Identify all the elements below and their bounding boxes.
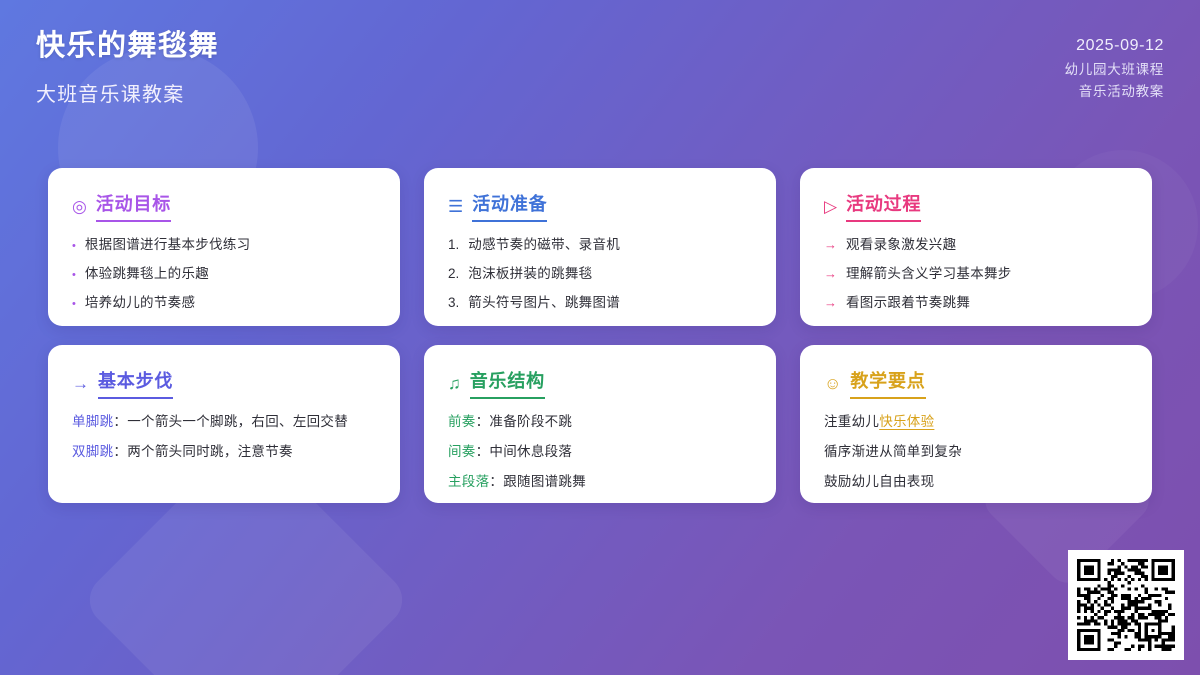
list-item: •体验跳舞毯上的乐趣 — [72, 265, 376, 283]
list-item-value: 两个箭头同时跳，注意节奏 — [127, 444, 293, 459]
list-item-text: 体验跳舞毯上的乐趣 — [85, 265, 209, 283]
music-note-icon: ♫ — [448, 375, 461, 392]
card-body: 单脚跳：一个箭头一个脚跳，右回、左回交替双脚跳：两个箭头同时跳，注意节奏 — [72, 413, 376, 461]
list-item: →理解箭头含义学习基本舞步 — [824, 265, 1128, 283]
card-header: ☰活动准备 — [448, 190, 752, 222]
bullet-dot-icon: • — [72, 297, 76, 312]
qr-code-image — [1077, 559, 1175, 651]
qr-code[interactable] — [1068, 550, 1184, 660]
list-item: 前奏：准备阶段不跳 — [448, 413, 752, 431]
card-4: →基本步伐单脚跳：一个箭头一个脚跳，右回、左回交替双脚跳：两个箭头同时跳，注意节… — [48, 345, 400, 503]
list-item-separator: ： — [476, 444, 490, 459]
header-meta-type: 音乐活动教案 — [1065, 81, 1164, 103]
list-item-key: 前奏 — [448, 414, 476, 429]
list-item-key: 间奏 — [448, 444, 476, 459]
title-block: 快乐的舞毯舞 大班音乐课教案 — [36, 28, 219, 107]
list-item-separator: ： — [113, 444, 127, 459]
list-item: 循序渐进从简单到复杂 — [824, 443, 1128, 461]
list-item-separator: ： — [476, 414, 490, 429]
list-item-value: 准备阶段不跳 — [489, 414, 572, 429]
page-title: 快乐的舞毯舞 — [36, 28, 219, 64]
list-item-key: 双脚跳 — [72, 444, 113, 459]
card-title: 活动过程 — [846, 190, 921, 222]
card-header: ♫音乐结构 — [448, 367, 752, 399]
list-item: 双脚跳：两个箭头同时跳，注意节奏 — [72, 443, 376, 461]
list-item: →观看录象激发兴趣 — [824, 236, 1128, 254]
list-item: 2.泡沫板拼装的跳舞毯 — [448, 265, 752, 283]
card-title: 基本步伐 — [98, 367, 173, 399]
card-title: 活动准备 — [472, 190, 547, 222]
card-body: 1.动感节奏的磁带、录音机2.泡沫板拼装的跳舞毯3.箭头符号图片、跳舞图谱 — [448, 236, 752, 313]
header-meta: 2025-09-12 幼儿园大班课程 音乐活动教案 — [1065, 28, 1164, 103]
header-meta-course: 幼儿园大班课程 — [1065, 59, 1164, 81]
arrow-right-icon: → — [824, 265, 837, 283]
card-2: ☰活动准备1.动感节奏的磁带、录音机2.泡沫板拼装的跳舞毯3.箭头符号图片、跳舞… — [424, 168, 776, 326]
card-header: ◎活动目标 — [72, 190, 376, 222]
card-body: 前奏：准备阶段不跳间奏：中间休息段落主段落：跟随图谱跳舞 — [448, 413, 752, 492]
list-item: 单脚跳：一个箭头一个脚跳，右回、左回交替 — [72, 413, 376, 431]
list-item-separator: ： — [113, 414, 127, 429]
list-item: 间奏：中间休息段落 — [448, 443, 752, 461]
list-item-number: 2. — [448, 265, 459, 283]
list-item-text: 动感节奏的磁带、录音机 — [468, 236, 620, 254]
list-item-text: 观看录象激发兴趣 — [846, 236, 956, 254]
header-date: 2025-09-12 — [1065, 34, 1164, 59]
list-item: 3.箭头符号图片、跳舞图谱 — [448, 294, 752, 312]
card-5: ♫音乐结构前奏：准备阶段不跳间奏：中间休息段落主段落：跟随图谱跳舞 — [424, 345, 776, 503]
card-body: →观看录象激发兴趣→理解箭头含义学习基本舞步→看图示跟着节奏跳舞 — [824, 236, 1128, 313]
arrow-right-icon: → — [824, 294, 837, 312]
page-subtitle: 大班音乐课教案 — [36, 78, 219, 107]
list-item: 鼓励幼儿自由表现 — [824, 473, 1128, 491]
list-item-text: 循序渐进从简单到复杂 — [824, 444, 962, 459]
list-item: →看图示跟着节奏跳舞 — [824, 294, 1128, 312]
card-header: ☺教学要点 — [824, 367, 1128, 399]
list-item-text: 根据图谱进行基本步伐练习 — [85, 236, 251, 254]
list-item-value: 中间休息段落 — [489, 444, 572, 459]
list-item: 主段落：跟随图谱跳舞 — [448, 473, 752, 491]
list-item-number: 1. — [448, 236, 459, 254]
card-3: ▷活动过程→观看录象激发兴趣→理解箭头含义学习基本舞步→看图示跟着节奏跳舞 — [800, 168, 1152, 326]
list-icon: ☰ — [448, 198, 463, 215]
list-item-separator: ： — [489, 474, 503, 489]
bullet-dot-icon: • — [72, 239, 76, 254]
page-header: 快乐的舞毯舞 大班音乐课教案 2025-09-12 幼儿园大班课程 音乐活动教案 — [0, 0, 1200, 140]
list-item-key: 主段落 — [448, 474, 489, 489]
arrow-right-icon: → — [72, 375, 89, 392]
list-item-text: 培养幼儿的节奏感 — [85, 294, 195, 312]
card-body: 注重幼儿快乐体验循序渐进从简单到复杂鼓励幼儿自由表现 — [824, 413, 1128, 492]
play-triangle-icon: ▷ — [824, 198, 837, 215]
list-item-text: 看图示跟着节奏跳舞 — [846, 294, 970, 312]
list-item-value: 一个箭头一个脚跳，右回、左回交替 — [127, 414, 348, 429]
list-item: 注重幼儿快乐体验 — [824, 413, 1128, 431]
card-title: 活动目标 — [96, 190, 171, 222]
card-title: 音乐结构 — [470, 367, 545, 399]
list-item: •根据图谱进行基本步伐练习 — [72, 236, 376, 254]
card-grid: ◎活动目标•根据图谱进行基本步伐练习•体验跳舞毯上的乐趣•培养幼儿的节奏感☰活动… — [48, 168, 1152, 503]
card-6: ☺教学要点注重幼儿快乐体验循序渐进从简单到复杂鼓励幼儿自由表现 — [800, 345, 1152, 503]
list-item-text: 理解箭头含义学习基本舞步 — [846, 265, 1012, 283]
list-item: 1.动感节奏的磁带、录音机 — [448, 236, 752, 254]
list-item: •培养幼儿的节奏感 — [72, 294, 376, 312]
list-item-text: 泡沫板拼装的跳舞毯 — [468, 265, 592, 283]
list-item-key: 单脚跳 — [72, 414, 113, 429]
target-icon: ◎ — [72, 198, 87, 215]
smiley-icon: ☺ — [824, 375, 841, 392]
list-item-highlight: 快乐体验 — [879, 414, 934, 429]
card-1: ◎活动目标•根据图谱进行基本步伐练习•体验跳舞毯上的乐趣•培养幼儿的节奏感 — [48, 168, 400, 326]
card-header: →基本步伐 — [72, 367, 376, 399]
list-item-value: 跟随图谱跳舞 — [503, 474, 586, 489]
list-item-text: 鼓励幼儿自由表现 — [824, 474, 934, 489]
bullet-dot-icon: • — [72, 268, 76, 283]
card-header: ▷活动过程 — [824, 190, 1128, 222]
card-title: 教学要点 — [850, 367, 925, 399]
card-body: •根据图谱进行基本步伐练习•体验跳舞毯上的乐趣•培养幼儿的节奏感 — [72, 236, 376, 313]
list-item-number: 3. — [448, 294, 459, 312]
list-item-text: 箭头符号图片、跳舞图谱 — [468, 294, 620, 312]
arrow-right-icon: → — [824, 236, 837, 254]
list-item-text: 注重幼儿 — [824, 414, 879, 429]
